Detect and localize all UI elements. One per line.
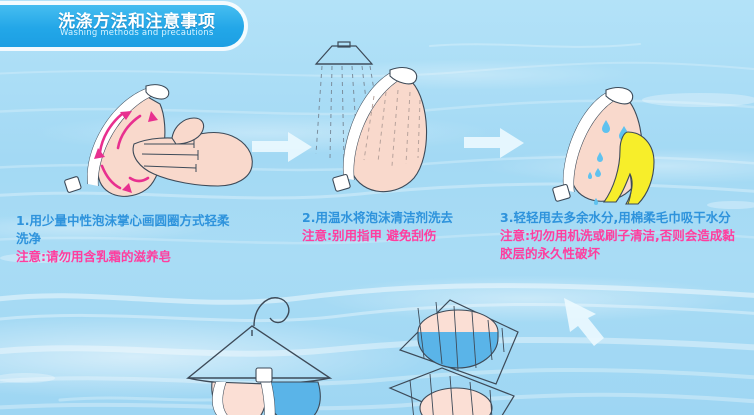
arrow-drying-down-right (564, 298, 604, 346)
step-2-warning: 注意:别用指甲 避免刮伤 (302, 227, 520, 245)
illustration-cups-on-drying-net (396, 292, 626, 415)
washing-instructions-poster: 洗涤方法和注意事项 Washing methods and precaution… (0, 0, 754, 415)
illustration-bra-on-clothes-hanger (182, 286, 392, 415)
illustration-showerhead-rinsing-cup (286, 42, 482, 212)
step-3-instruction: 3.轻轻甩去多余水分,用棉柔毛巾吸干水分 (500, 209, 746, 227)
page-subtitle: Washing methods and precautions (60, 28, 214, 38)
illustration-towel-blotting-cup (538, 76, 724, 212)
drying-net-lower (390, 368, 514, 415)
step-1-text-block: 1.用少量中性泡沫掌心画圆圈方式轻柔洗净 注意:请勿用含乳霜的滋养皂 (16, 212, 234, 266)
drying-net-upper (400, 300, 518, 384)
illustration-hand-washing-cup (48, 78, 278, 208)
arrow-step2-to-step3 (464, 126, 526, 160)
step-3-text-block: 3.轻轻甩去多余水分,用棉柔毛巾吸干水分 注意:切勿用机洗或刷子清洁,否则会造成… (500, 209, 746, 263)
step-2-text-block: 2.用温水将泡沫清洁剂洗去 注意:别用指甲 避免刮伤 (302, 209, 520, 245)
step-3-warning: 注意:切勿用机洗或刷子清洁,否则会造成黏胶层的永久性破坏 (500, 227, 746, 263)
step-1-instruction: 1.用少量中性泡沫掌心画圆圈方式轻柔洗净 (16, 212, 234, 248)
step-2-instruction: 2.用温水将泡沫清洁剂洗去 (302, 209, 520, 227)
step-1-warning: 注意:请勿用含乳霜的滋养皂 (16, 248, 234, 266)
